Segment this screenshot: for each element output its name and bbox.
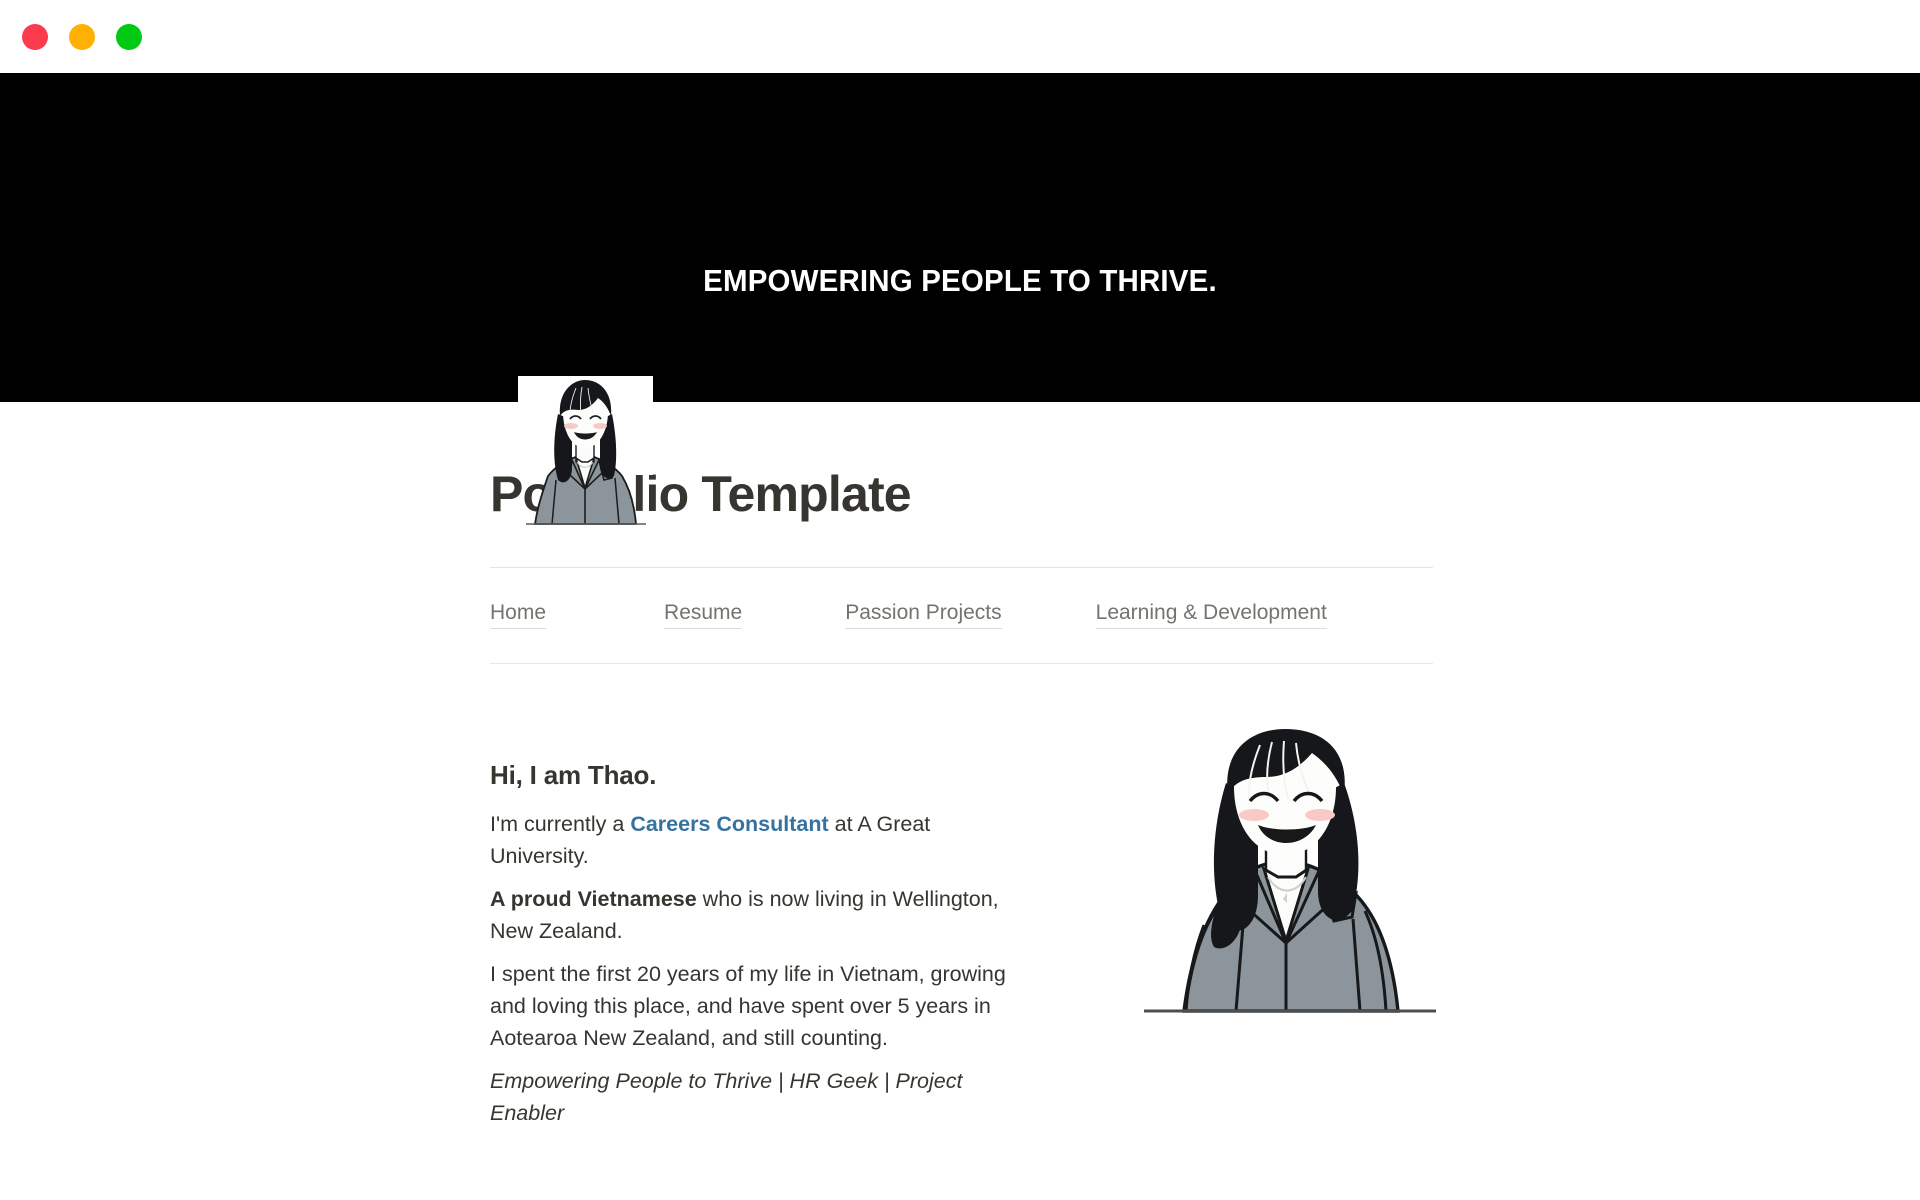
minimize-window-button[interactable] [69, 24, 95, 50]
intro-paragraph-location: A proud Vietnamese who is now living in … [490, 883, 1030, 947]
maximize-window-button[interactable] [116, 24, 142, 50]
intro-tagline: Empowering People to Thrive | HR Geek | … [490, 1065, 1030, 1129]
close-window-button[interactable] [22, 24, 48, 50]
nav-tab-resume[interactable]: Resume [664, 601, 742, 629]
intro-text-before-link: I'm currently a [490, 812, 630, 836]
intro-bold-vietnamese: A proud Vietnamese [490, 887, 697, 911]
intro-text-block: Hi, I am Thao. I'm currently a Careers C… [490, 760, 1030, 1140]
intro-paragraph-current-role: I'm currently a Careers Consultant at A … [490, 808, 1030, 872]
profile-illustration-icon [518, 376, 653, 539]
careers-consultant-link[interactable]: Careers Consultant [630, 812, 828, 836]
nav-tab-learning-development[interactable]: Learning & Development [1096, 601, 1327, 629]
window-titlebar [0, 0, 1920, 73]
nav-tab-passion-projects[interactable]: Passion Projects [845, 601, 1001, 629]
nav-divider-bottom [490, 663, 1433, 664]
window-controls [22, 24, 142, 50]
content-column: Portfolio Template Home Resume Passion P… [490, 466, 1433, 1140]
nav-tab-home[interactable]: Home [490, 601, 546, 629]
hero-tagline: EMPOWERING PEOPLE TO THRIVE. [48, 263, 1872, 299]
profile-illustration-icon [1130, 725, 1450, 1035]
intro-section: Hi, I am Thao. I'm currently a Careers C… [490, 760, 1433, 1140]
hero-banner: EMPOWERING PEOPLE TO THRIVE. [0, 73, 1920, 402]
intro-heading: Hi, I am Thao. [490, 760, 1030, 791]
nav-tabs: Home Resume Passion Projects Learning & … [490, 568, 1433, 663]
intro-paragraph-story: I spent the first 20 years of my life in… [490, 958, 1030, 1054]
